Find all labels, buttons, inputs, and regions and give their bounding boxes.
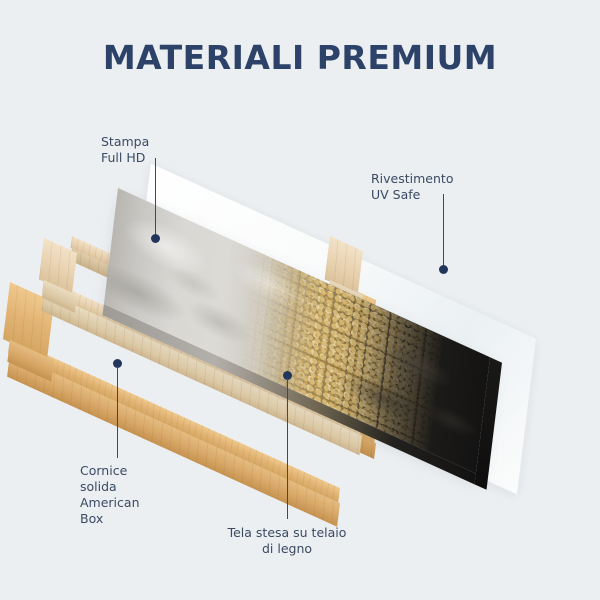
callout-label-stampa-full-hd: Stampa Full HD bbox=[101, 134, 149, 166]
callout-label-cornice-solida: Cornice solida American Box bbox=[80, 463, 140, 527]
callout-leader-line-tela-stesa bbox=[287, 378, 288, 519]
callout-label-tela-stesa: Tela stesa su telaio di legno bbox=[222, 525, 352, 557]
callout-dot-rivestimento-uv-safe bbox=[439, 265, 448, 274]
callout-label-rivestimento-uv-safe: Rivestimento UV Safe bbox=[371, 171, 453, 203]
poster-canvas: MATERIALI PREMIUM bbox=[0, 0, 600, 600]
page-title: MATERIALI PREMIUM bbox=[0, 38, 600, 77]
callout-leader-line-stampa-full-hd bbox=[155, 158, 156, 238]
callout-dot-stampa-full-hd bbox=[151, 234, 160, 243]
callout-leader-line-cornice-solida bbox=[117, 366, 118, 458]
callout-leader-line-rivestimento-uv-safe bbox=[443, 194, 444, 268]
